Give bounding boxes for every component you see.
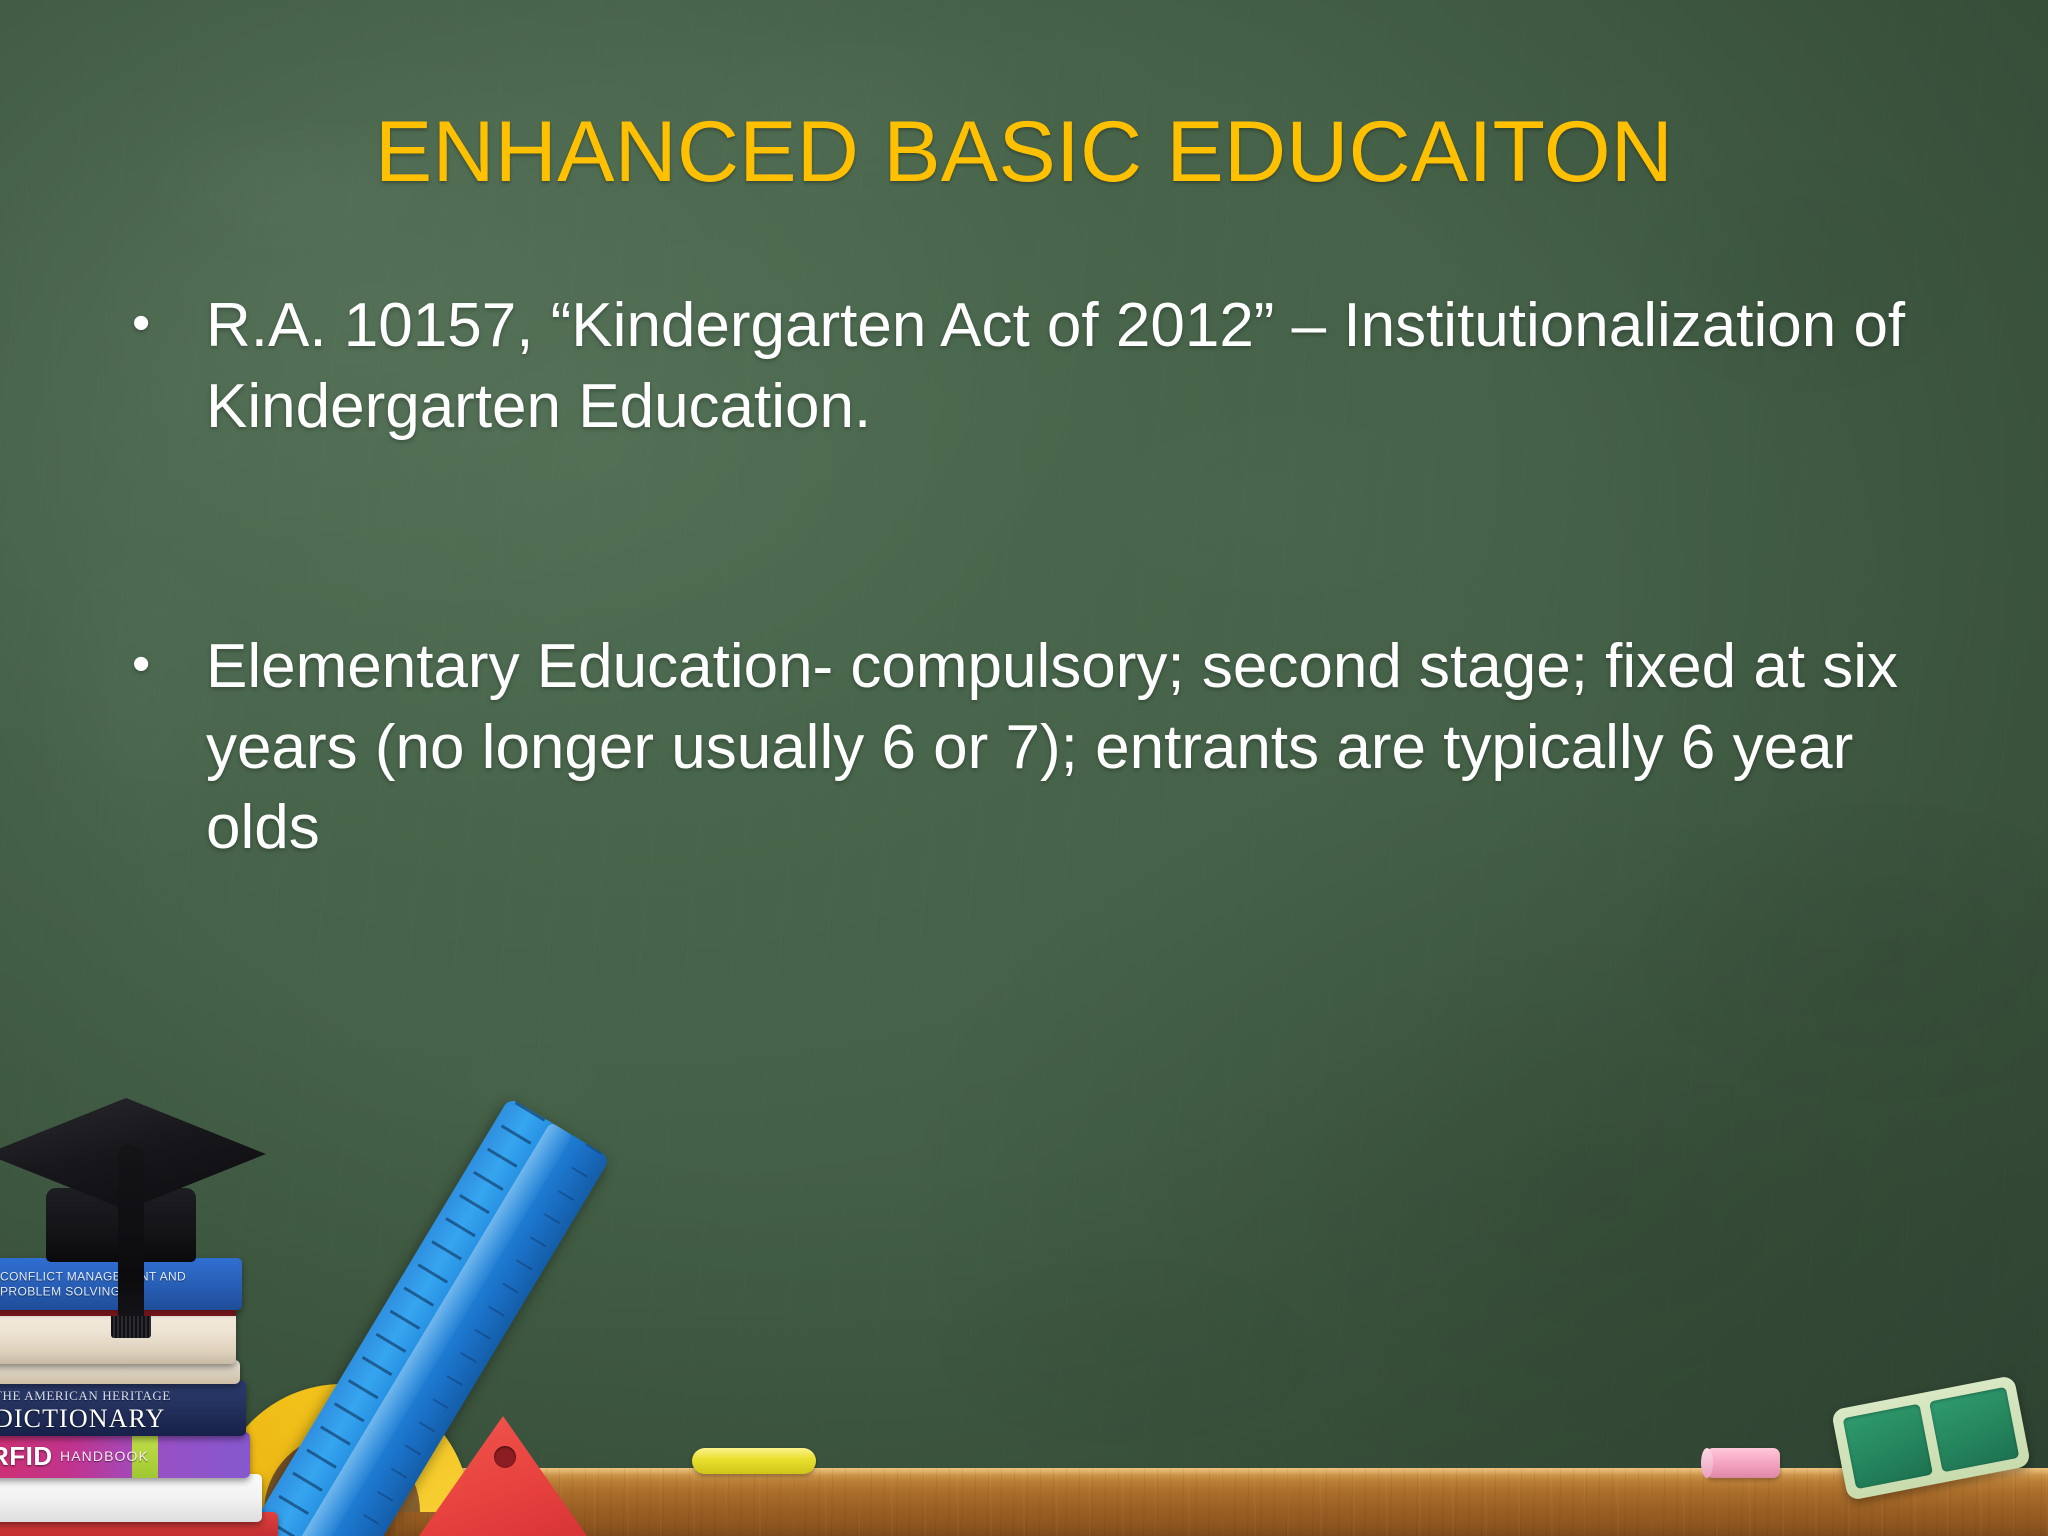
- bullet-item-2: • Elementary Education- compulsory; seco…: [96, 627, 1926, 869]
- slide-canvas: ENHANCED BASIC EDUCAITON • R.A. 10157, “…: [0, 0, 2048, 1536]
- book-rfid-subtitle: HANDBOOK: [60, 1448, 149, 1464]
- book-american-heritage-dictionary: THE AMERICAN HERITAGE DICTIONARY: [0, 1380, 246, 1436]
- cap-tassel: [118, 1146, 144, 1332]
- book-conflict-title: CONFLICT MANAGEMENT AND PROBLEM SOLVING: [0, 1269, 210, 1298]
- bullet-item-1: • R.A. 10157, “Kindergarten Act of 2012”…: [96, 286, 1926, 447]
- book-dictionary-subtitle: THE AMERICAN HERITAGE: [0, 1388, 171, 1404]
- bullet-text-1: R.A. 10157, “Kindergarten Act of 2012” –…: [206, 286, 1906, 447]
- bullet-marker-icon: •: [96, 286, 206, 361]
- book-rfid-title: RFID: [0, 1441, 53, 1472]
- pink-chalk-stick: [1706, 1448, 1780, 1478]
- bullet-list: • R.A. 10157, “Kindergarten Act of 2012”…: [96, 286, 1926, 869]
- bullet-marker-icon: •: [96, 627, 206, 702]
- graduation-cap-icon: [0, 1078, 290, 1268]
- set-square-hole: [494, 1446, 516, 1468]
- book-rfid-handbook: RFID HANDBOOK: [0, 1432, 250, 1478]
- book-white: [0, 1474, 262, 1522]
- bullet-text-2: Elementary Education- compulsory; second…: [206, 627, 1906, 869]
- book-dictionary-title: DICTIONARY: [0, 1404, 165, 1434]
- slide-title: ENHANCED BASIC EDUCAITON: [0, 104, 2048, 200]
- eraser-pad-left: [1843, 1404, 1933, 1490]
- yellow-chalk-stick: [692, 1448, 816, 1474]
- eraser-pad-right: [1929, 1387, 2019, 1473]
- school-supplies-cluster: 60708090100110120130 RFID HANDBOOK THE A…: [0, 976, 700, 1536]
